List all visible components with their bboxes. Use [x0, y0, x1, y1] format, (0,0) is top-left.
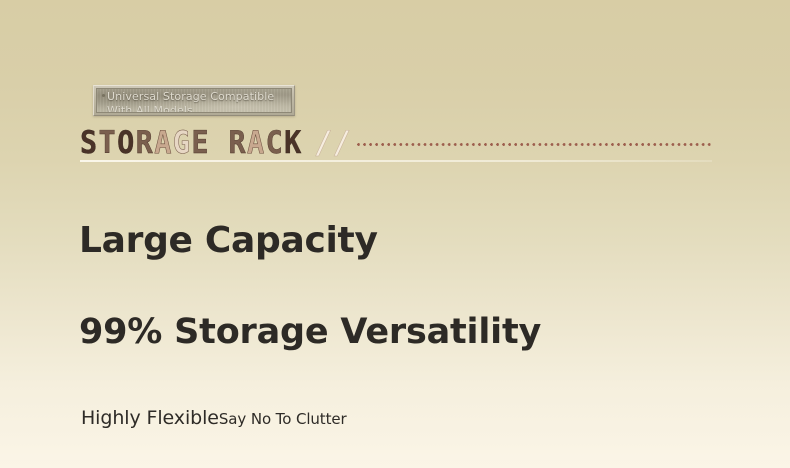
title-letter: R: [136, 126, 155, 160]
page-title: STORAGE RACK//: [80, 126, 353, 160]
headline-large-capacity: Large Capacity: [79, 219, 378, 263]
title-letter: R: [228, 126, 247, 160]
title-letter: E: [191, 126, 210, 160]
headline-storage-versatility: 99% Storage Versatility: [79, 310, 541, 354]
badge-line-1: Universal Storage Compatible: [107, 90, 274, 103]
title-letter: T: [99, 126, 118, 160]
title-letter: G: [173, 126, 192, 160]
title-letter: A: [247, 126, 266, 160]
header-underline: [80, 160, 712, 162]
title-letter: S: [80, 126, 99, 160]
tagline-secondary: Say No To Clutter: [219, 410, 347, 428]
title-letter: A: [154, 126, 173, 160]
header-row: STORAGE RACK//: [80, 126, 712, 164]
tagline-primary: Highly Flexible: [81, 407, 219, 429]
dotted-rule: [357, 143, 712, 147]
badge-line-2: With All Models: [107, 104, 193, 114]
title-letter: O: [117, 126, 136, 160]
compatibility-badge: Universal Storage CompatibleWith All Mod…: [93, 85, 295, 116]
title-slash-mark: //: [316, 126, 353, 160]
footer-taglines: Highly FlexibleSay No To Clutter: [81, 405, 347, 432]
title-letter: K: [284, 126, 303, 160]
badge-plate: Universal Storage CompatibleWith All Mod…: [96, 88, 292, 113]
title-space: [210, 126, 229, 160]
title-letter: C: [266, 126, 285, 160]
slide-canvas: Universal Storage CompatibleWith All Mod…: [0, 0, 790, 468]
badge-bolt-icon: [102, 94, 105, 97]
badge-text: Universal Storage CompatibleWith All Mod…: [97, 89, 291, 113]
